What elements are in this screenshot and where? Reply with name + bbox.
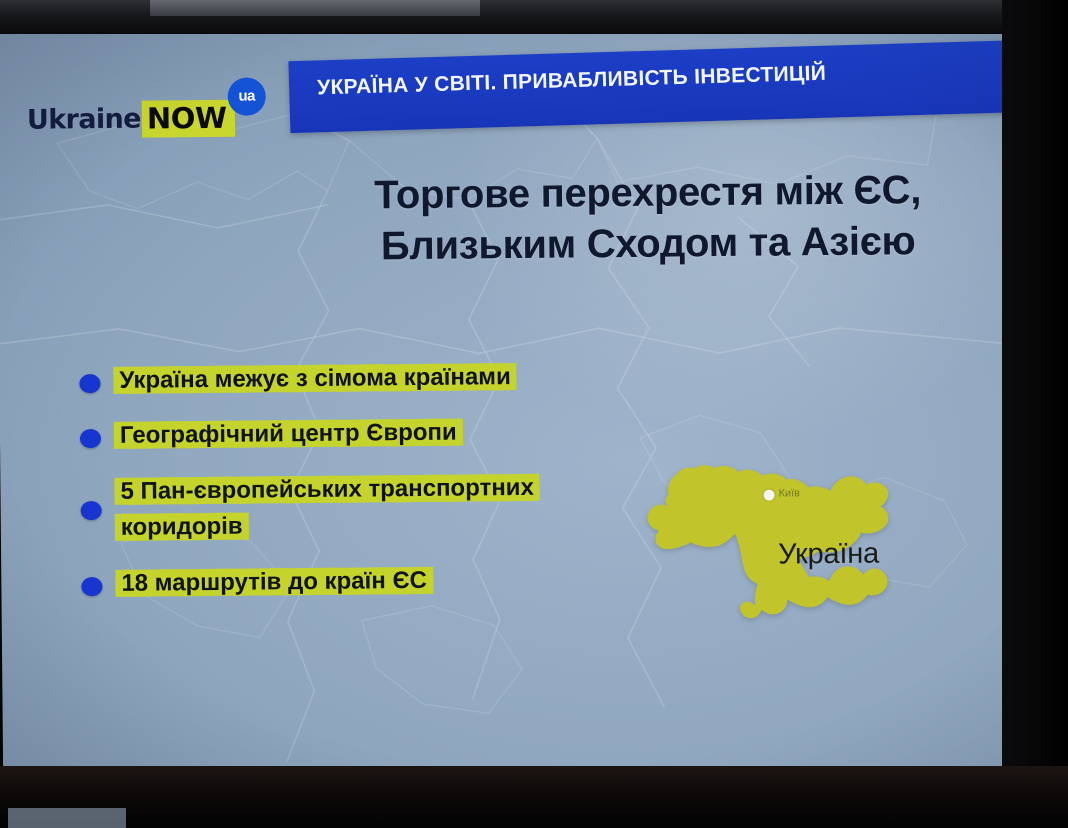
bullet-list: Україна межує з сімома країнами Географі… [79,358,651,622]
slide-title-line2: Близьким Сходом та Азією [328,216,968,273]
presentation-slide: Ukraine NOW ua УКРАЇНА У СВІТІ. ПРИВАБЛИ… [0,14,1017,784]
list-item: Україна межує з сімома країнами [79,358,649,400]
capital-city-dot-icon [764,490,775,501]
list-item-label: Географічний центр Європи [120,419,457,449]
screen-bezel-right [1002,0,1068,828]
bullet-dot-icon [81,501,102,520]
logo-word-ukraine: Ukraine [27,103,141,135]
slide-title: Торгове перехрестя між ЄС, Близьким Сход… [327,165,968,274]
capital-city-label: Київ [778,487,800,499]
list-item: 5 Пан-європейських транспортних коридорі… [80,469,651,547]
screen-bezel-top-highlight [150,0,480,16]
projection-photo: Ukraine NOW ua УКРАЇНА У СВІТІ. ПРИВАБЛИ… [0,0,1068,828]
bullet-dot-icon [79,374,100,393]
logo-word-now: NOW [142,99,235,137]
list-item: Географічний центр Європи [80,413,650,455]
list-item-label: Україна межує з сімома країнами [119,363,511,394]
screen-bezel-bottom [0,766,1068,828]
header-banner-text: УКРАЇНА У СВІТІ. ПРИВАБЛИВІСТЬ ІНВЕСТИЦІ… [317,62,827,101]
slide-title-line1: Торгове перехрестя між ЄС, [374,168,921,217]
logo-now-wrap: NOW ua [142,99,235,137]
list-item-label: 18 маршрутів до країн ЄС [121,567,427,597]
bullet-dot-icon [80,429,101,448]
logo-ua-badge-icon: ua [228,77,266,115]
screen-bezel-bottom-tab [8,808,126,828]
ukraine-map: Київ Україна [622,440,964,658]
bullet-dot-icon [81,577,102,596]
ukraine-now-logo: Ukraine NOW ua [27,98,235,140]
list-item: 18 маршрутів до країн ЄС [81,561,651,603]
list-item-label: 5 Пан-європейських транспортних коридорі… [120,474,534,541]
country-label: Україна [778,538,879,572]
